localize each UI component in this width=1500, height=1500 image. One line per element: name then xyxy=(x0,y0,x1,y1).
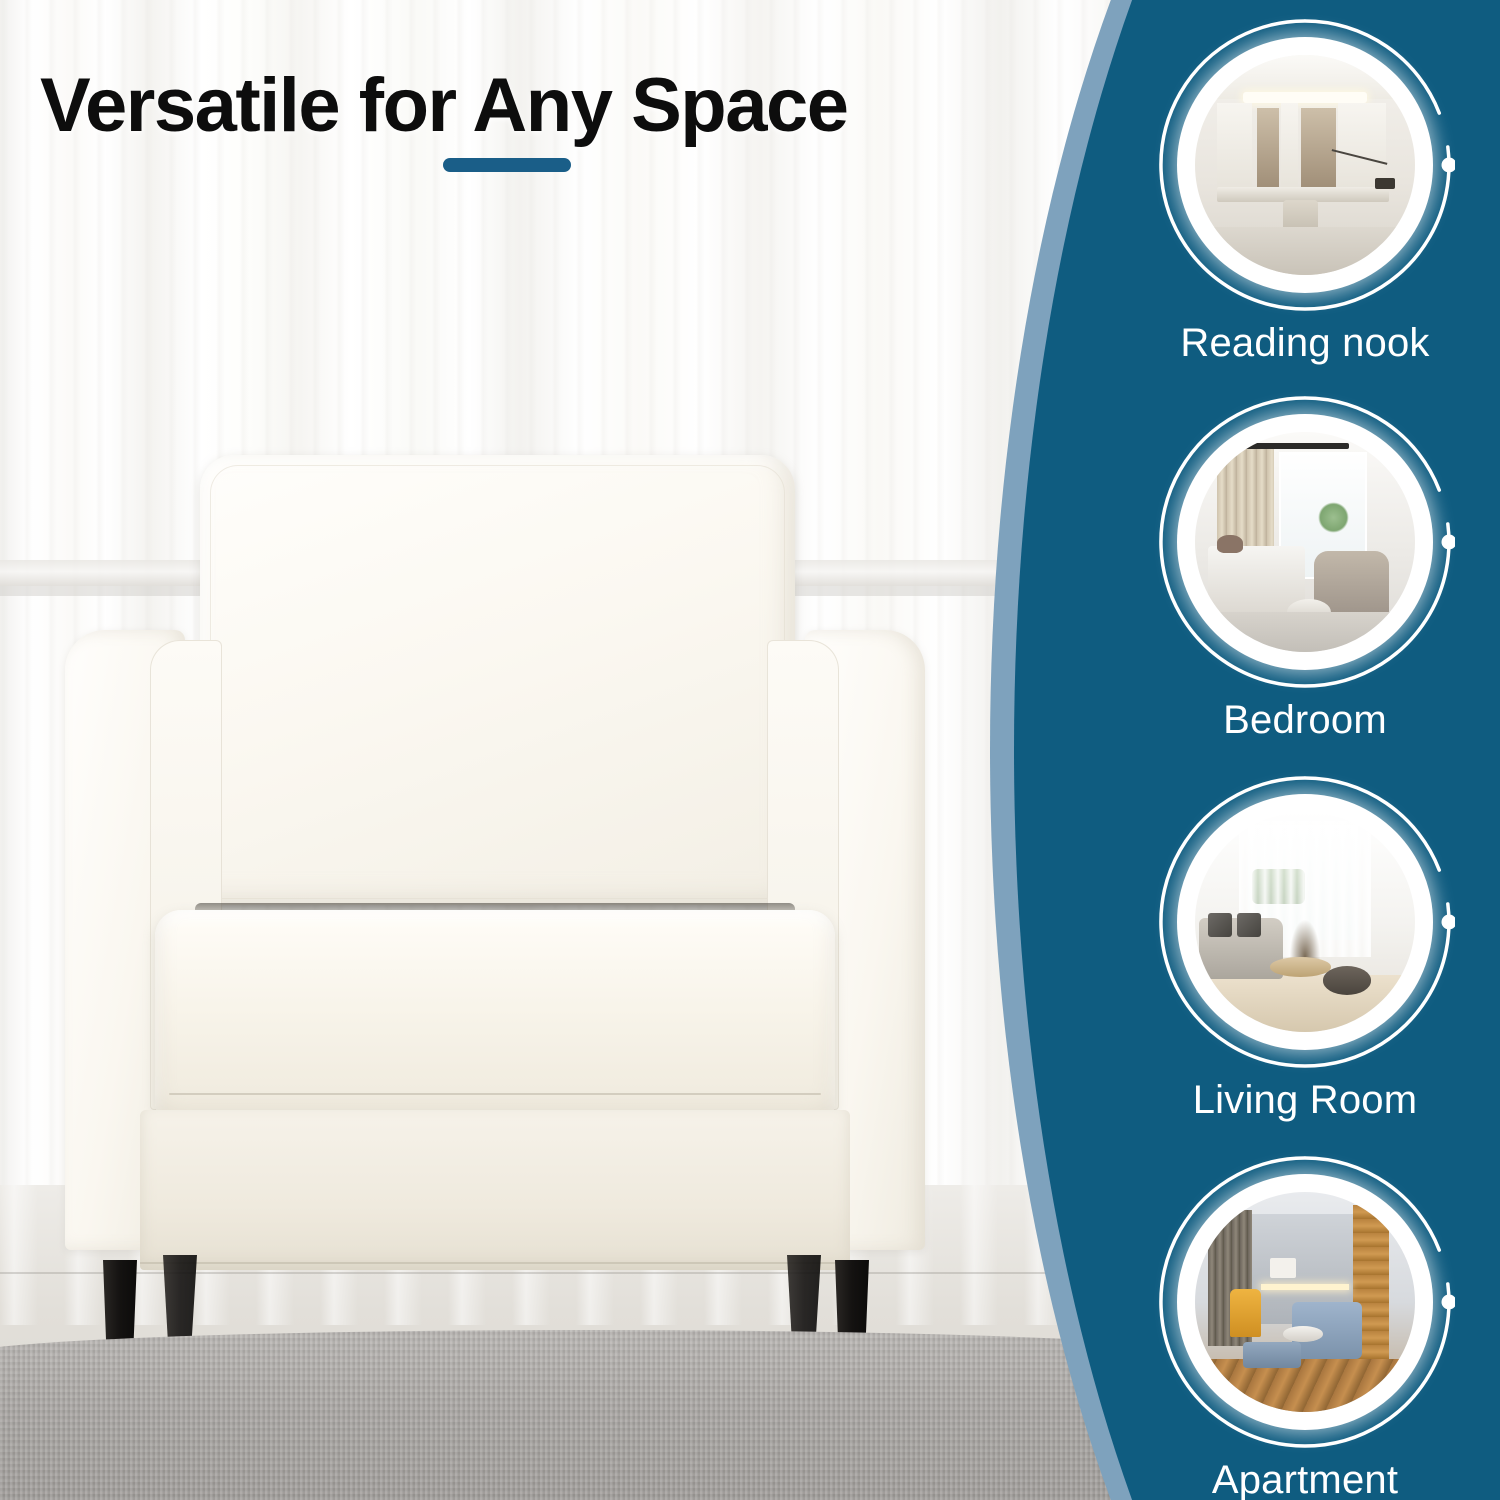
marketing-image: Versatile for Any Space xyxy=(0,0,1500,1500)
arc-marker-dot xyxy=(1442,1295,1456,1310)
chair-back-cushion xyxy=(200,455,795,905)
feature-label-bedroom: Bedroom xyxy=(1095,698,1500,743)
chair-seat-cushion xyxy=(155,910,835,1125)
feature-apartment[interactable]: Apartment xyxy=(1155,1152,1455,1452)
feature-label-reading-nook: Reading nook xyxy=(1095,321,1500,366)
arc-marker-dot xyxy=(1442,158,1456,173)
reading-nook-illustration xyxy=(1195,55,1415,275)
apartment-photo xyxy=(1195,1192,1415,1412)
arc-marker-dot xyxy=(1442,915,1456,930)
bedroom-photo xyxy=(1195,432,1415,652)
feature-reading-nook[interactable]: Reading nook xyxy=(1155,15,1455,315)
chair-base xyxy=(140,1110,850,1270)
feature-label-apartment: Apartment xyxy=(1095,1458,1500,1500)
title-underline-accent xyxy=(443,158,571,172)
feature-living-room[interactable]: Living Room xyxy=(1155,772,1455,1072)
page-title: Versatile for Any Space xyxy=(40,62,848,149)
arc-marker-dot xyxy=(1442,535,1456,550)
feature-label-living-room: Living Room xyxy=(1095,1078,1500,1123)
living-room-illustration xyxy=(1195,812,1415,1032)
feature-bedroom[interactable]: Bedroom xyxy=(1155,392,1455,692)
features-panel: Reading nook xyxy=(960,0,1500,1500)
apartment-illustration xyxy=(1195,1192,1415,1412)
reading-nook-photo xyxy=(1195,55,1415,275)
armchair xyxy=(45,455,945,1465)
living-room-photo xyxy=(1195,812,1415,1032)
bedroom-illustration xyxy=(1195,432,1415,652)
